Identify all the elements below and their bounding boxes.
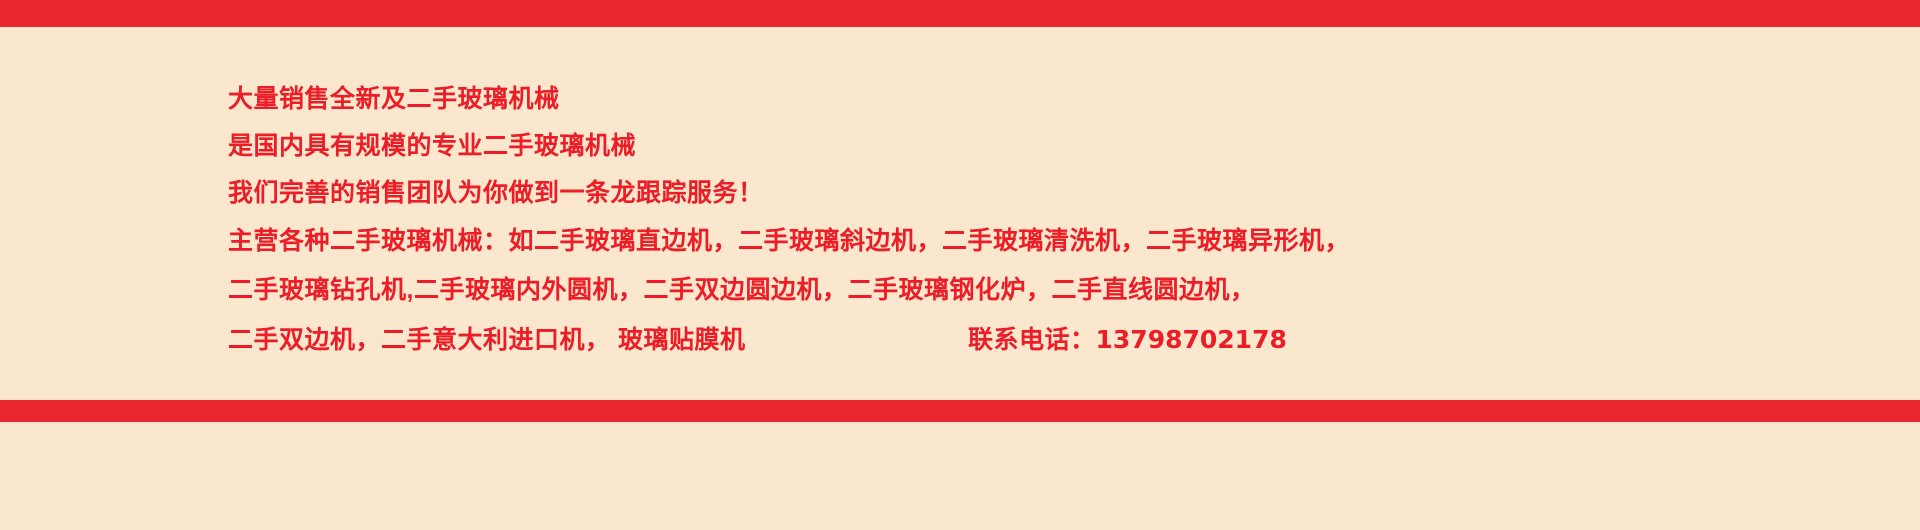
advertisement-banner: 大量销售全新及二手玻璃机械 是国内具有规模的专业二手玻璃机械 我们完善的销售团队…	[0, 0, 1920, 530]
headline-line-1: 大量销售全新及二手玻璃机械	[228, 75, 1888, 123]
phone-number: 13798702178	[1096, 325, 1287, 354]
bottom-background-strip	[0, 422, 1920, 530]
headline-line-3: 我们完善的销售团队为你做到一条龙跟踪服务！	[228, 169, 1888, 217]
bottom-red-bar	[0, 400, 1920, 422]
product-list-line-3-with-contact: 二手双边机，二手意大利进口机， 玻璃贴膜机 联系电话：13798702178	[228, 315, 1888, 365]
contact-phone: 联系电话：13798702178	[968, 315, 1287, 365]
top-red-bar	[0, 0, 1920, 27]
product-list-line-2: 二手玻璃钻孔机,二手玻璃内外圆机，二手双边圆边机，二手玻璃钢化炉，二手直线圆边机…	[228, 266, 1888, 315]
headline-line-2: 是国内具有规模的专业二手玻璃机械	[228, 123, 1888, 169]
product-list-line-3-text: 二手双边机，二手意大利进口机， 玻璃贴膜机	[228, 316, 968, 365]
contact-label: 联系电话：	[968, 326, 1096, 354]
banner-text-block: 大量销售全新及二手玻璃机械 是国内具有规模的专业二手玻璃机械 我们完善的销售团队…	[228, 75, 1888, 365]
product-list-line-1: 主营各种二手玻璃机械：如二手玻璃直边机，二手玻璃斜边机，二手玻璃清洗机，二手玻璃…	[228, 217, 1888, 266]
